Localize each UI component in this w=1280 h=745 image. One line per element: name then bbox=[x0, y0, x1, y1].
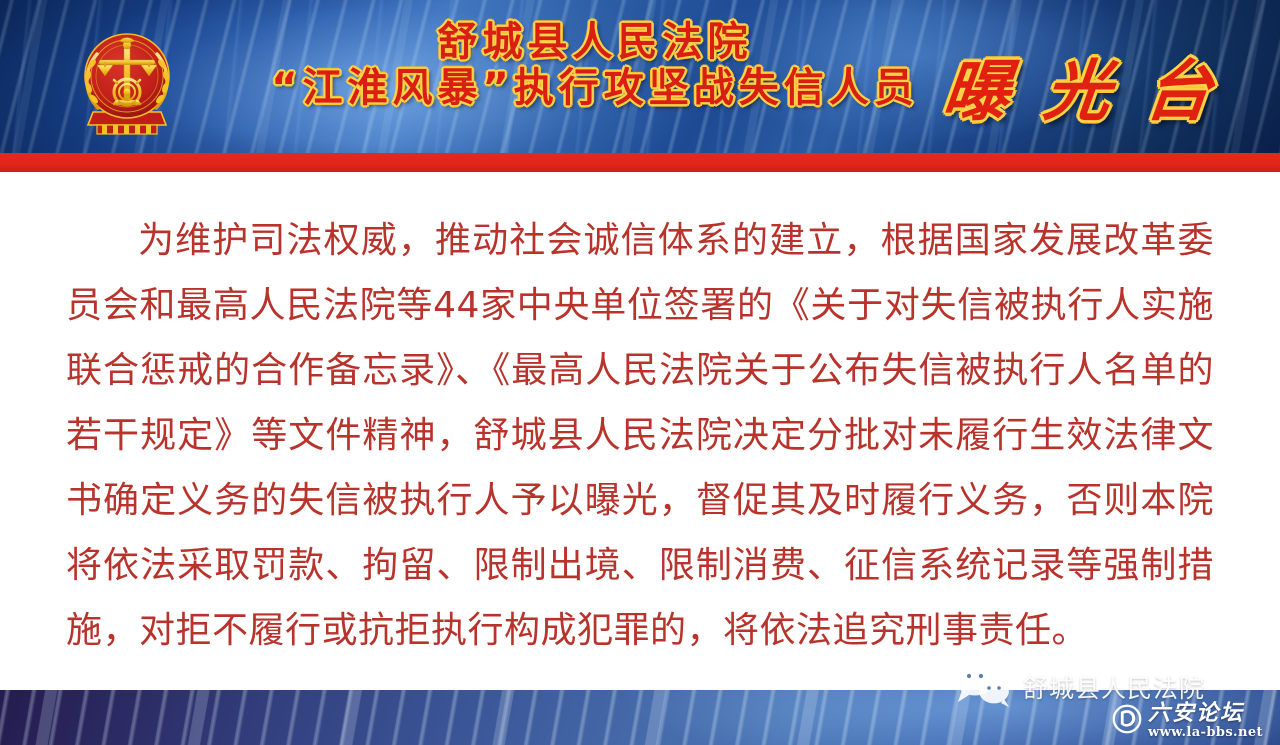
poster-title-block: 舒城县人民法院 “江淮风暴”执行攻坚战失信人员 bbox=[250, 22, 940, 108]
announcement-paragraph: 为维护司法权威，推动社会诚信体系的建立，根据国家发展改革委员会和最高人民法院等4… bbox=[66, 208, 1214, 663]
exposure-platform-heading: 曝 光 台 bbox=[939, 38, 1223, 134]
header-banner: 舒城县人民法院 “江淮风暴”执行攻坚战失信人员 曝 光 台 bbox=[0, 0, 1280, 153]
poster-title-line-2: “江淮风暴”执行攻坚战失信人员 bbox=[250, 68, 940, 108]
chinese-court-emblem-icon bbox=[67, 24, 187, 144]
footer-dash-pattern bbox=[0, 690, 1280, 745]
poster-title-line-1: 舒城县人民法院 bbox=[250, 22, 940, 62]
red-divider-bar bbox=[0, 153, 1280, 172]
footer-light-streaks bbox=[0, 690, 1280, 745]
exposure-poster: 舒城县人民法院 “江淮风暴”执行攻坚战失信人员 曝 光 台 为维护司法权威，推动… bbox=[0, 0, 1280, 745]
footer-banner bbox=[0, 690, 1280, 745]
announcement-body: 为维护司法权威，推动社会诚信体系的建立，根据国家发展改革委员会和最高人民法院等4… bbox=[0, 172, 1280, 690]
